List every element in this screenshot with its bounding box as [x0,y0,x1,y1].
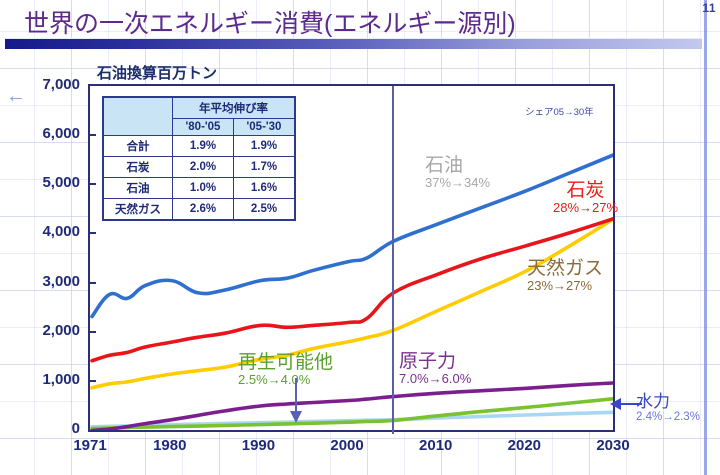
y-tick-label: 6,000 [8,125,80,142]
table-row: 合計1.9%1.9% [104,136,295,157]
annotation-coal: 石炭 28%→27% [553,180,618,216]
annotation-hydro-name: 水力 [636,392,700,411]
x-tick-label: 2020 [508,437,541,454]
table-column-header: '05-'30 [234,119,295,136]
growth-rate-table: 年平均伸び率'80-'05'05-'30合計1.9%1.9%石炭2.0%1.7%… [103,97,295,220]
annotation-coal-pct: 28%→27% [553,201,618,216]
y-axis-title: 石油換算百万トン [97,62,217,83]
x-tick-label: 1980 [153,437,186,454]
table-header-row: 年平均伸び率 [104,98,295,119]
table-row-label: 天然ガス [104,199,173,220]
annotation-renewable-pct: 2.5%→4.0% [238,373,333,388]
annotation-nuclear-name: 原子力 [399,351,471,372]
table-cell-value: 2.5% [234,199,295,220]
table-row-label: 石油 [104,178,173,199]
y-tick-label: 2,000 [8,322,80,339]
x-tick-label: 1990 [242,437,275,454]
table-row: 石油1.0%1.6% [104,178,295,199]
table-header-span: 年平均伸び率 [173,98,295,119]
x-tick-label: 1971 [73,437,106,454]
y-tick-label: 4,000 [8,223,80,240]
y-tick-label: 7,000 [8,76,80,93]
y-tick-mark [90,183,96,185]
title-divider-bar [5,38,702,49]
table-cell-value: 1.0% [173,178,234,199]
y-tick-mark [90,331,96,333]
annotation-renewable-name: 再生可能他 [238,352,333,373]
table-cell-value: 1.9% [234,136,295,157]
table-corner-cell [104,98,173,136]
annotation-gas-name: 天然ガス [527,258,603,279]
projection-divider-line [392,86,394,434]
table-row-label: 石炭 [104,157,173,178]
y-tick-mark [90,232,96,234]
x-tick-label: 2010 [419,437,452,454]
annotation-oil-name: 石油 [425,155,490,176]
y-tick-mark [90,134,96,136]
page-number: 11 [702,1,716,15]
y-tick-label: 1,000 [8,371,80,388]
hydro-pointer-arrow-icon [610,396,642,412]
annotation-hydro: 水力 2.4%→2.3% [636,392,700,424]
y-tick-mark [90,380,96,382]
annotation-gas-pct: 23%→27% [527,279,603,294]
table-cell-value: 2.6% [173,199,234,220]
background-vertical-rule [704,0,707,475]
table-cell-value: 2.0% [173,157,234,178]
table-row-label: 合計 [104,136,173,157]
y-tick-mark [90,282,96,284]
table-row: 石炭2.0%1.7% [104,157,295,178]
annotation-oil-pct: 37%→34% [425,176,490,191]
renewable-pointer-arrow-icon [288,378,304,424]
annotation-nuclear: 原子力 7.0%→6.0% [399,351,471,387]
y-tick-label: 0 [8,420,80,437]
table-cell-value: 1.9% [173,136,234,157]
x-tick-label: 2000 [330,437,363,454]
table-column-header: '80-'05 [173,119,234,136]
y-tick-label: 3,000 [8,273,80,290]
share-note: シェア05→30年 [525,104,594,118]
annotation-coal-name: 石炭 [553,180,618,201]
page-title: 世界の一次エネルギー消費(エネルギー源別) [24,4,516,40]
annotation-nuclear-pct: 7.0%→6.0% [399,372,471,387]
annotation-oil: 石油 37%→34% [425,155,490,191]
table-cell-value: 1.6% [234,178,295,199]
annotation-renewable: 再生可能他 2.5%→4.0% [238,352,333,388]
x-tick-label: 2030 [596,437,629,454]
table-cell-value: 1.7% [234,157,295,178]
y-tick-label: 5,000 [8,174,80,191]
annotation-gas: 天然ガス 23%→27% [527,258,603,294]
annotation-hydro-pct: 2.4%→2.3% [636,411,700,424]
table-row: 天然ガス2.6%2.5% [104,199,295,220]
